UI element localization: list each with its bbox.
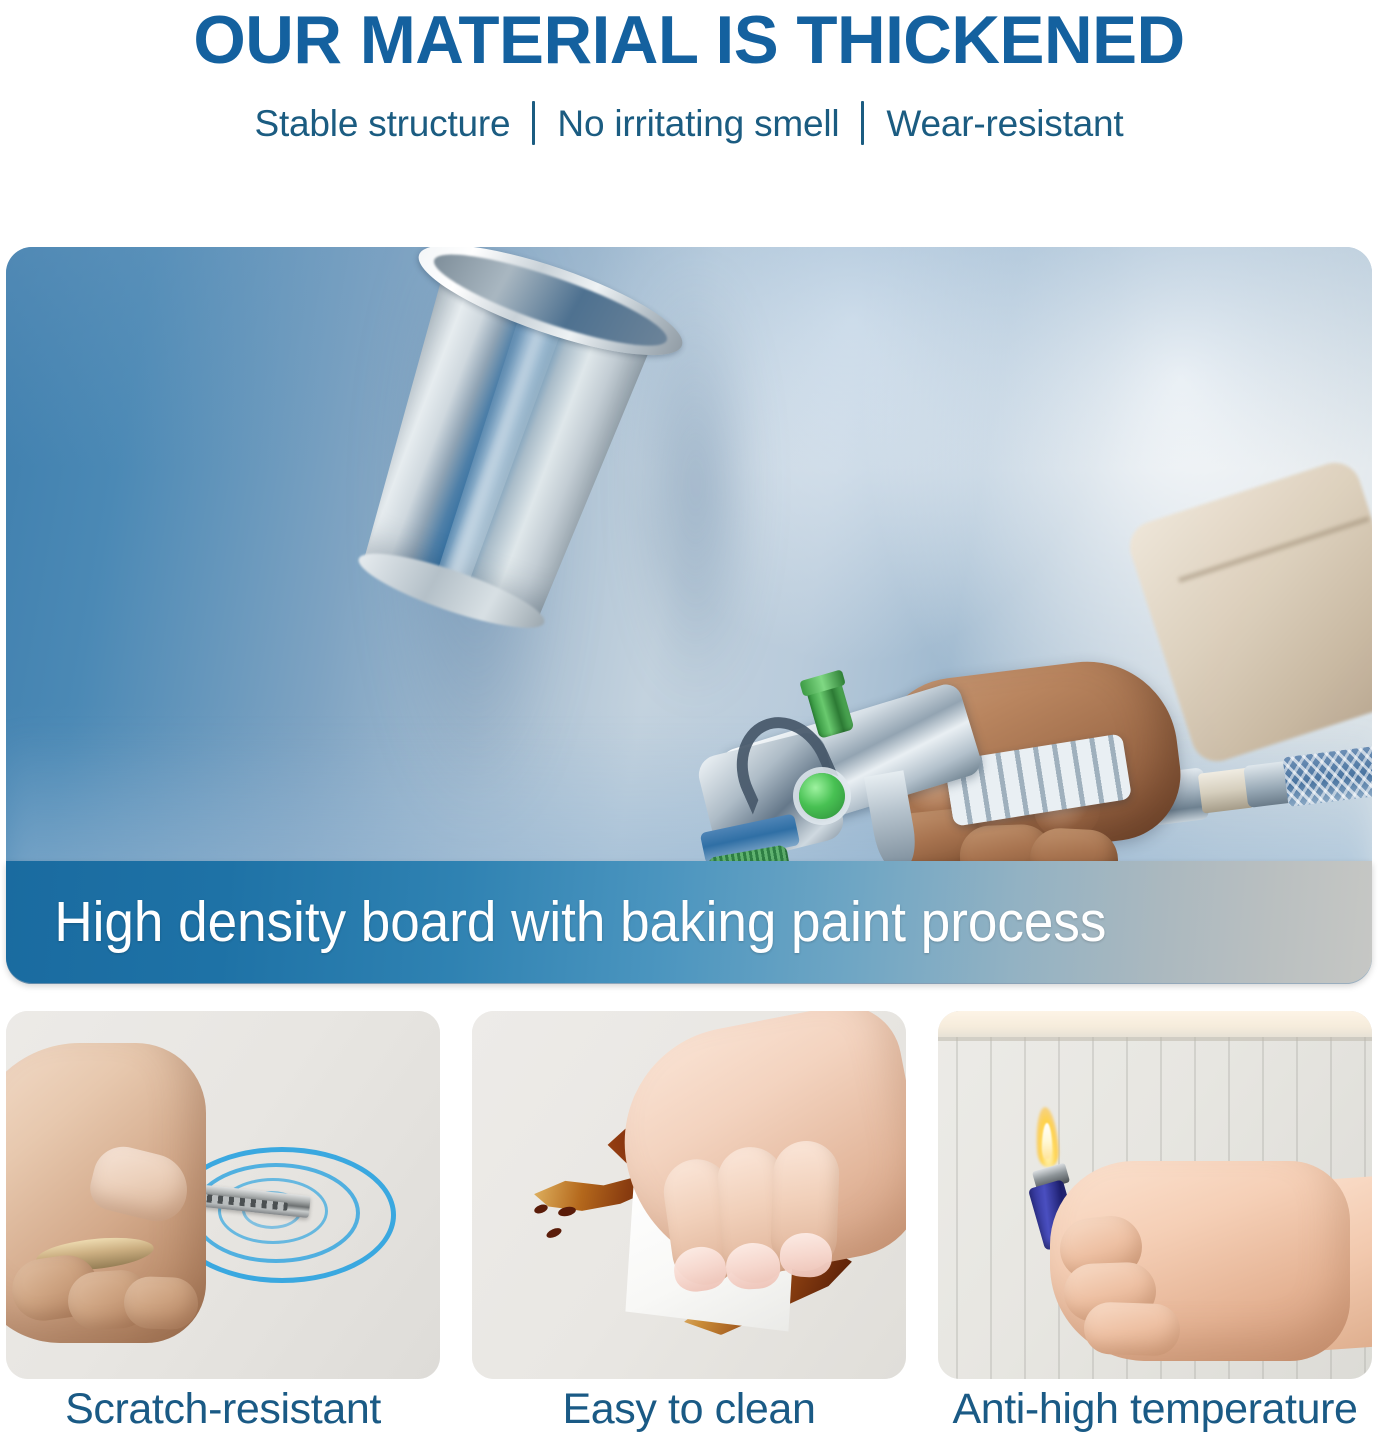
anti-high-temperature-image xyxy=(938,1011,1372,1379)
hose-braid xyxy=(1282,745,1372,807)
scratch-resistant-image xyxy=(6,1011,440,1379)
header: OUR MATERIAL IS THICKENED Stable structu… xyxy=(0,0,1378,145)
feature-item-1: No irritating smell xyxy=(535,105,861,142)
easy-to-clean-image xyxy=(472,1011,906,1379)
panel-caption-anti-high-temperature: Anti-high temperature xyxy=(938,1387,1372,1432)
feature-item-2: Wear-resistant xyxy=(864,105,1145,142)
hero-caption-band: High density board with baking paint pro… xyxy=(6,861,1372,983)
panel-top-edge-line xyxy=(938,1037,1372,1041)
feature-panel-easy-to-clean[interactable]: Easy to clean xyxy=(472,1011,906,1451)
panel-caption-scratch-resistant: Scratch-resistant xyxy=(6,1387,440,1432)
spray-gun-fan-knob-green xyxy=(799,773,845,819)
feature-panels: Scratch-resistant Easy to clean xyxy=(0,1011,1378,1451)
feature-list: Stable structure No irritating smell Wea… xyxy=(0,101,1378,145)
hero-caption-text: High density board with baking paint pro… xyxy=(6,889,1106,955)
page-title: OUR MATERIAL IS THICKENED xyxy=(7,4,1371,75)
finger xyxy=(1083,1301,1181,1356)
feature-panel-scratch-resistant[interactable]: Scratch-resistant xyxy=(6,1011,440,1451)
panel-caption-easy-to-clean: Easy to clean xyxy=(472,1387,906,1432)
finger xyxy=(123,1276,199,1331)
feature-item-0: Stable structure xyxy=(232,105,532,142)
feature-panel-anti-high-temperature[interactable]: Anti-high temperature xyxy=(938,1011,1372,1451)
panel-top-trim xyxy=(938,1011,1372,1037)
